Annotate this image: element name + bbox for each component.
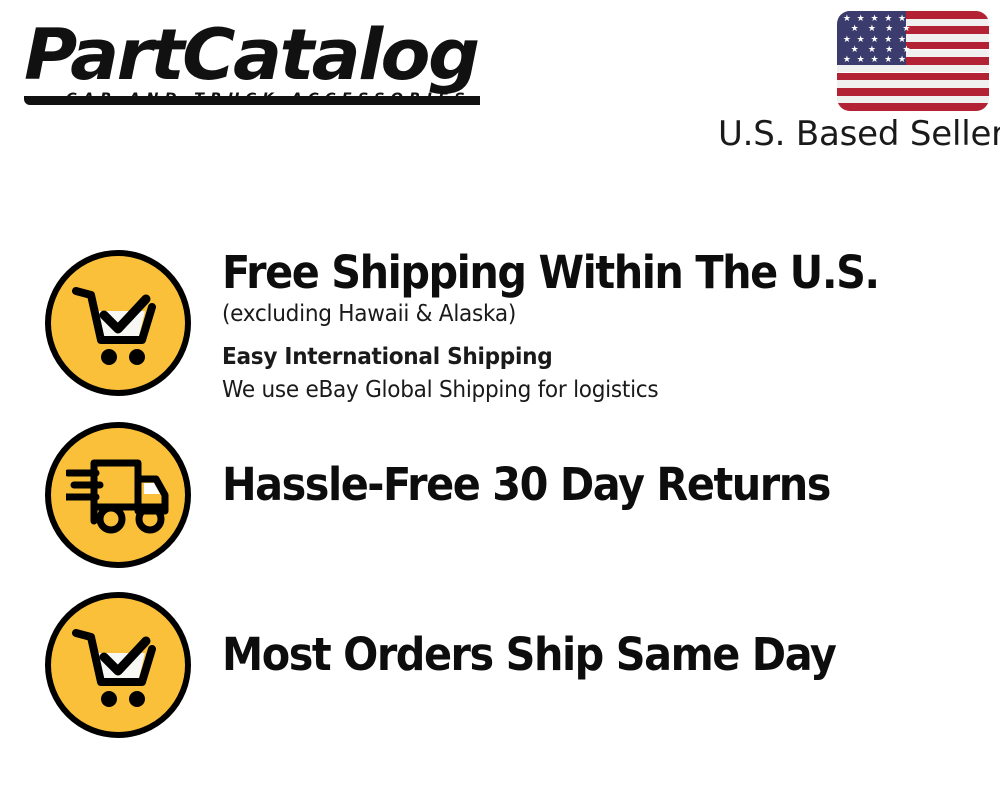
feature-title: Free Shipping Within The U.S. xyxy=(222,250,921,297)
logo-underline-rule xyxy=(24,96,480,105)
flag-star-row: ★★★★★ xyxy=(837,13,912,24)
us-flag-icon: ★★★★★ ★★★★ ★★★★★ ★★★★ ★★★★★ xyxy=(837,11,989,111)
feature-list: Free Shipping Within The U.S. (excluding… xyxy=(0,180,1000,800)
us-based-seller-label: U.S. Based Seller xyxy=(718,116,990,153)
feature-row: Free Shipping Within The U.S. (excluding… xyxy=(0,250,1000,430)
star-icon: ★ xyxy=(884,35,892,44)
delivery-truck-icon xyxy=(45,422,191,568)
flag-star-row: ★★★★★ xyxy=(837,54,912,65)
banner-header: PartCatalog CAR AND TRUCK ACCESSORIES ★★… xyxy=(0,0,1000,180)
star-icon: ★ xyxy=(902,24,910,33)
flag-stripe xyxy=(837,73,989,81)
star-icon: ★ xyxy=(843,55,851,64)
flag-stripe xyxy=(837,65,989,73)
shopping-cart-check-icon xyxy=(45,592,191,738)
shipping-info-banner: PartCatalog CAR AND TRUCK ACCESSORIES ★★… xyxy=(0,0,1000,800)
flag-stripe xyxy=(837,96,989,104)
star-icon: ★ xyxy=(898,14,906,23)
flag-stripe xyxy=(837,88,989,96)
star-icon: ★ xyxy=(885,24,893,33)
brand-logo: PartCatalog CAR AND TRUCK ACCESSORIES xyxy=(24,22,494,107)
feature-row: Hassle-Free 30 Day Returns xyxy=(0,422,1000,594)
star-icon: ★ xyxy=(857,55,865,64)
shopping-cart-check-icon xyxy=(45,250,191,396)
feature-title: Most Orders Ship Same Day xyxy=(222,632,921,679)
brand-wordmark: PartCatalog xyxy=(24,22,513,89)
flag-star-row: ★★★★ xyxy=(837,24,924,35)
flag-stripe xyxy=(837,103,989,111)
star-icon: ★ xyxy=(884,55,892,64)
feature-subline: We use eBay Global Shipping for logistic… xyxy=(222,375,936,406)
star-icon: ★ xyxy=(898,55,906,64)
feature-row: Most Orders Ship Same Day xyxy=(0,592,1000,764)
star-icon: ★ xyxy=(843,35,851,44)
star-icon: ★ xyxy=(851,24,859,33)
star-icon: ★ xyxy=(857,35,865,44)
feature-text-block: Hassle-Free 30 Day Returns xyxy=(222,462,982,509)
flag-stripe xyxy=(837,80,989,88)
star-icon: ★ xyxy=(843,14,851,23)
feature-subline: Easy International Shipping xyxy=(222,342,936,373)
star-icon: ★ xyxy=(902,45,910,54)
star-icon: ★ xyxy=(898,35,906,44)
feature-text-block: Most Orders Ship Same Day xyxy=(222,632,982,679)
star-icon: ★ xyxy=(851,45,859,54)
feature-text-block: Free Shipping Within The U.S. (excluding… xyxy=(222,250,982,406)
star-icon: ★ xyxy=(870,55,878,64)
star-icon: ★ xyxy=(885,45,893,54)
star-icon: ★ xyxy=(870,35,878,44)
star-icon: ★ xyxy=(868,45,876,54)
star-icon: ★ xyxy=(884,14,892,23)
feature-title: Hassle-Free 30 Day Returns xyxy=(222,462,921,509)
star-icon: ★ xyxy=(870,14,878,23)
flag-star-row: ★★★★★ xyxy=(837,34,912,45)
feature-subline: (excluding Hawaii & Alaska) xyxy=(222,299,936,330)
star-icon: ★ xyxy=(857,14,865,23)
star-icon: ★ xyxy=(868,24,876,33)
flag-canton: ★★★★★ ★★★★ ★★★★★ ★★★★ ★★★★★ xyxy=(837,11,906,65)
